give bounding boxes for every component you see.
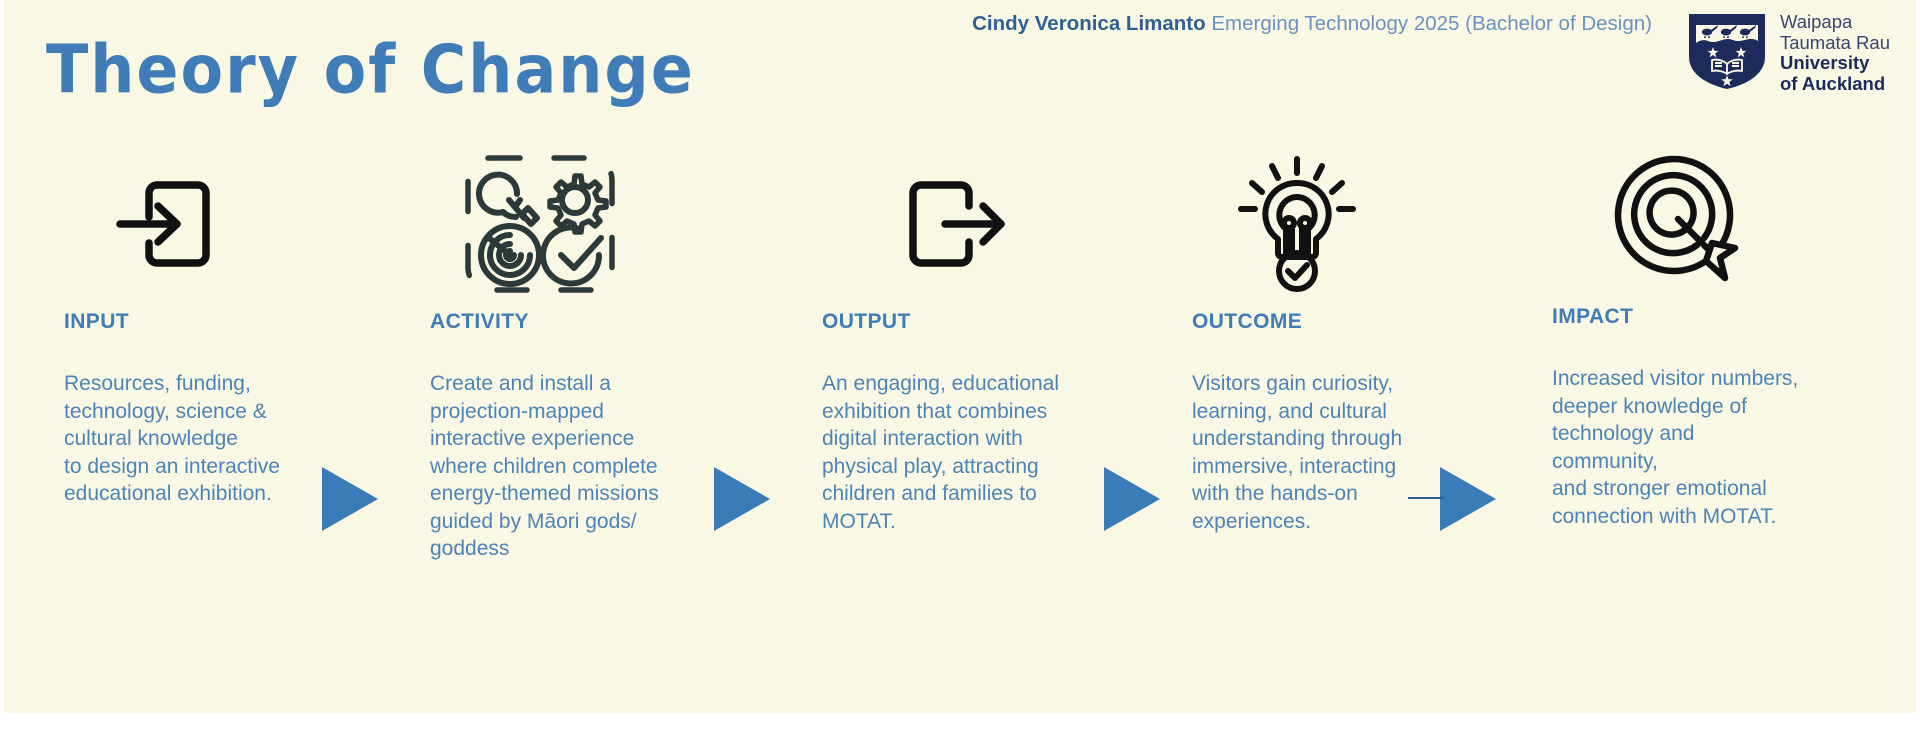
stage-label-activity: ACTIVITY — [430, 310, 680, 334]
stage-label-outcome: OUTCOME — [1192, 310, 1442, 334]
logo-line-2: Taumata Rau — [1780, 33, 1890, 54]
bottom-edge-band — [0, 713, 1920, 729]
flow-connector-line — [1408, 497, 1444, 499]
stage-label-input: INPUT — [64, 310, 314, 334]
stage-output: OUTPUT An engaging, educational exhibiti… — [822, 150, 1072, 535]
activity-icon-box — [430, 150, 680, 298]
stage-label-output: OUTPUT — [822, 310, 1072, 334]
process-grid-icon — [460, 150, 620, 298]
theory-of-change-infographic: Theory of Change Cindy Veronica Limanto … — [0, 0, 1920, 729]
outcome-icon-box — [1192, 150, 1442, 298]
stage-body-activity: Create and install a projection-mapped i… — [430, 370, 680, 563]
flow-arrow-activity-to-output — [714, 467, 770, 531]
flow-arrow-input-to-activity — [322, 467, 378, 531]
input-icon-box — [64, 150, 314, 298]
author-name: Cindy Veronica Limanto — [972, 12, 1206, 35]
stage-body-output: An engaging, educational exhibition that… — [822, 370, 1072, 535]
stage-outcome: OUTCOME Visitors gain curiosity, learnin… — [1192, 150, 1442, 535]
output-icon-box — [822, 150, 1072, 298]
logo-line-1: Waipapa — [1780, 12, 1890, 33]
lightbulb-check-icon — [1232, 153, 1362, 295]
stage-activity: ACTIVITY Create and install a projection… — [430, 150, 680, 563]
university-of-auckland-logo: Waipapa Taumata Rau University of Auckla… — [1685, 11, 1890, 94]
logo-line-3: University — [1780, 53, 1890, 74]
shield-icon — [1685, 11, 1769, 91]
login-arrow-into-box-icon — [114, 173, 212, 275]
stage-body-impact: Increased visitor numbers, deeper knowle… — [1552, 365, 1802, 530]
page-title: Theory of Change — [46, 30, 695, 109]
logo-wordmark: Waipapa Taumata Rau University of Auckla… — [1780, 11, 1890, 94]
course-name: Emerging Technology 2025 (Bachelor of De… — [1211, 12, 1652, 35]
flow-arrow-output-to-outcome — [1104, 467, 1160, 531]
stage-input: INPUT Resources, funding, technology, sc… — [64, 150, 314, 508]
impact-icon-box — [1552, 145, 1802, 293]
byline: Cindy Veronica Limanto Emerging Technolo… — [972, 11, 1652, 37]
logout-arrow-out-of-box-icon — [907, 173, 1007, 275]
left-edge-band — [0, 0, 4, 729]
stage-label-impact: IMPACT — [1552, 305, 1802, 329]
stage-body-input: Resources, funding, technology, science … — [64, 370, 314, 508]
stage-body-outcome: Visitors gain curiosity, learning, and c… — [1192, 370, 1442, 535]
stage-impact: IMPACT Increased visitor numbers, deeper… — [1552, 145, 1802, 530]
flow-arrow-outcome-to-impact — [1440, 467, 1496, 531]
target-arrow-icon — [1607, 148, 1749, 290]
right-edge-band — [1916, 0, 1920, 729]
logo-line-4: of Auckland — [1780, 74, 1890, 95]
